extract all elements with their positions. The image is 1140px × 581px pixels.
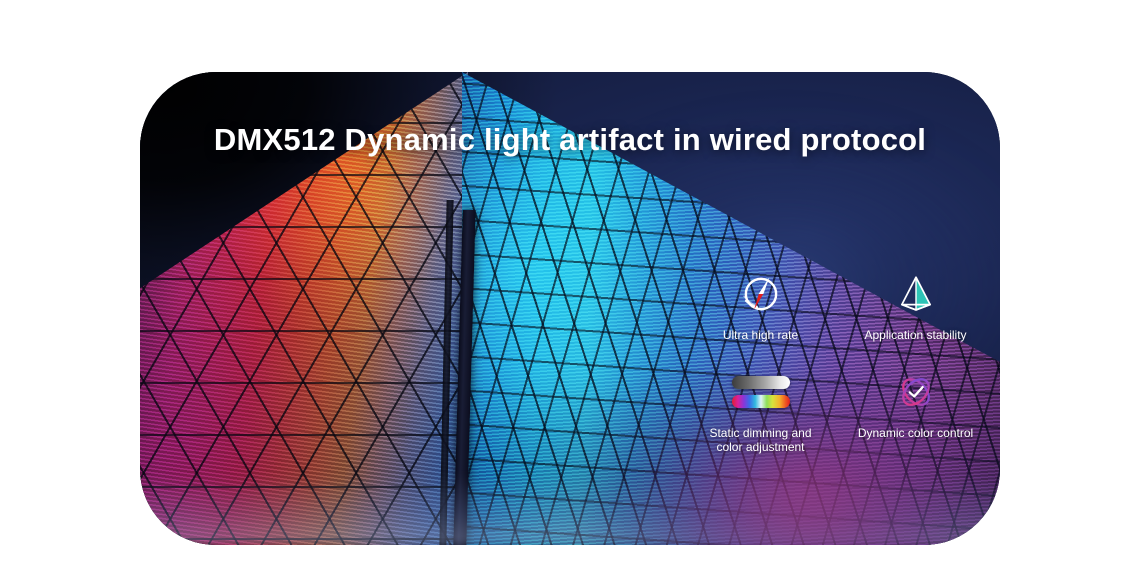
feature-grid: Ultra high rate Application stability xyxy=(688,268,978,454)
lightning-bolt-circle-icon xyxy=(739,268,783,320)
feature-label: Application stability xyxy=(864,328,966,342)
feature-application-stability: Application stability xyxy=(843,268,988,356)
feature-label: Static dimming and color adjustment xyxy=(709,426,811,454)
feature-ultra-high-rate: Ultra high rate xyxy=(688,268,833,356)
grayscale-slider-icon xyxy=(732,376,790,389)
pyramid-icon xyxy=(893,268,939,320)
orbit-check-icon xyxy=(893,366,939,418)
rainbow-slider-icon xyxy=(732,395,790,408)
feature-label: Ultra high rate xyxy=(723,328,798,342)
feature-static-dimming: Static dimming and color adjustment xyxy=(688,366,833,454)
banner-title: DMX512 Dynamic light artifact in wired p… xyxy=(140,122,1000,158)
feature-dynamic-color-control: Dynamic color control xyxy=(843,366,988,454)
feature-label: Dynamic color control xyxy=(858,426,973,440)
dimming-pills-icon xyxy=(732,366,790,418)
banner-card: DMX512 Dynamic light artifact in wired p… xyxy=(140,72,1000,545)
